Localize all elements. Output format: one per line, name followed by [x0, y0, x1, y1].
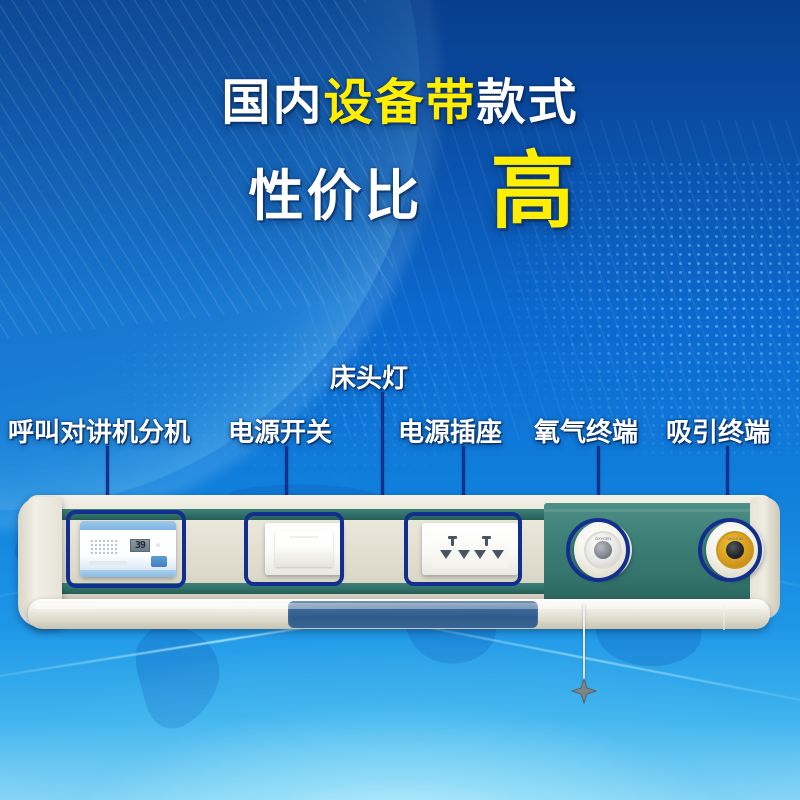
- speaker-grill-icon: [90, 539, 118, 555]
- socket-prong-slot: [492, 550, 504, 559]
- callout-label-bed-head-lamp: 床头灯: [330, 358, 408, 395]
- socket-prong-slot: [474, 550, 486, 559]
- callout-label-oxygen-terminal: 氧气终端: [534, 412, 638, 449]
- nurse-call-intercom[interactable]: 39: [80, 521, 176, 577]
- suction-drain-cord: [723, 604, 725, 630]
- intercom-display: 39: [130, 539, 150, 552]
- switch-rocker[interactable]: [275, 531, 333, 567]
- callout-label-power-socket: 电源插座: [398, 412, 502, 449]
- callout-label-power-switch: 电源开关: [228, 412, 332, 449]
- oxygen-terminal[interactable]: OXYGEN: [574, 521, 632, 579]
- intercom-bottom-strip: [80, 570, 176, 577]
- socket-prong-slot: [458, 550, 470, 559]
- oxygen-hook-cord: [583, 604, 585, 684]
- oxygen-terminal-mark: OXYGEN: [586, 536, 620, 541]
- suction-terminal-port[interactable]: [726, 541, 744, 559]
- callout-label-suction-terminal: 吸引终端: [666, 412, 770, 449]
- oxygen-terminal-ring: OXYGEN: [584, 531, 622, 569]
- power-switch[interactable]: [265, 523, 343, 575]
- oxygen-hook-pendant: [571, 678, 597, 704]
- callout-label-nurse-call-intercom: 呼叫对讲机分机: [8, 412, 190, 449]
- suction-terminal-ring: VACUUM: [716, 531, 754, 569]
- oxygen-terminal-port[interactable]: [594, 541, 612, 559]
- promo-banner: 国内设备带款式 性价比 高 呼叫对讲机分机 电源开关 床头灯 电源插座 氧气终端…: [0, 0, 800, 800]
- intercom-top-strip: [80, 521, 176, 530]
- halftone-dots-center: [120, 330, 540, 480]
- socket-pin-slot: [482, 538, 492, 546]
- status-led-icon: [156, 543, 160, 547]
- medical-bed-head-unit: 39: [18, 495, 780, 640]
- suction-terminal[interactable]: VACUUM: [706, 521, 764, 579]
- socket-prong-slot: [440, 550, 452, 559]
- intercom-slot: [89, 561, 127, 565]
- socket-face: [432, 530, 508, 568]
- suction-terminal-mark: VACUUM: [718, 536, 752, 541]
- power-socket[interactable]: [422, 523, 518, 575]
- intercom-call-button[interactable]: [151, 556, 167, 567]
- panel-lip-highlight: [34, 603, 764, 609]
- socket-pin-slot: [448, 538, 458, 546]
